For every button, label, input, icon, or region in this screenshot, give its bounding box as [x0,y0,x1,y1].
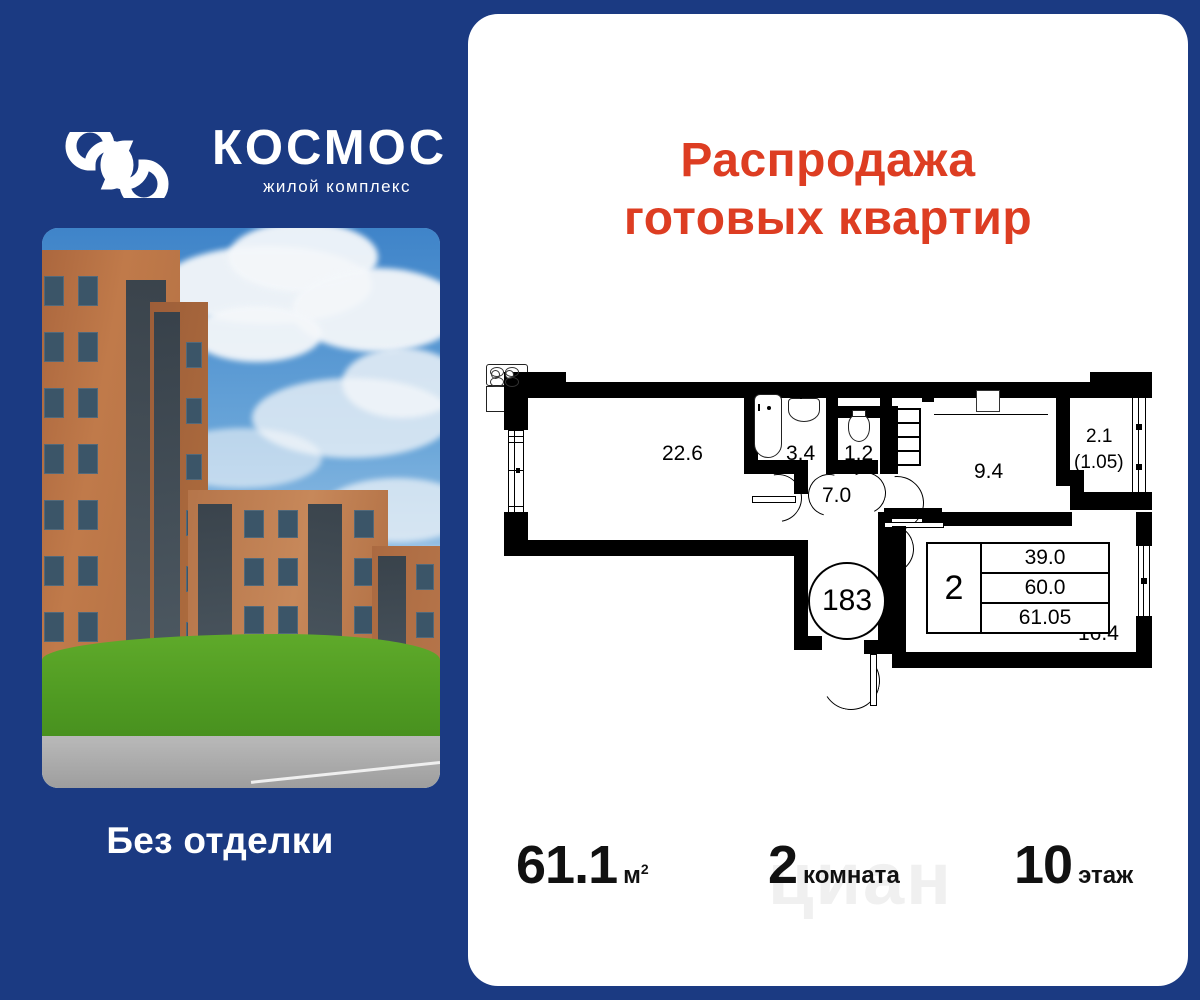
stat-floor-value: 10 [1014,834,1072,896]
stat-floor-label: этаж [1078,862,1133,890]
brand-name: КОСМОС [212,122,462,174]
apartment-spec-box: 2 39.0 60.0 61.05 [926,542,1110,634]
room-area-bathroom: 3.4 [786,442,815,466]
headline-line-1: Распродажа [468,132,1188,190]
brand-tagline: жилой комплекс [212,177,462,197]
stat-rooms-value: 2 [768,834,797,896]
summary-stats: циан 61.1 м2 2 комната 10 этаж [468,826,1188,916]
spec-total-area: 60.0 [982,574,1108,604]
room-area-living: 22.6 [662,442,703,466]
brand-logo: КОСМОС жилой комплекс [52,122,452,212]
spec-rooms-count: 2 [928,544,982,632]
room-area-kitchen: 9.4 [974,460,1003,484]
stat-floor: 10 этаж [1014,834,1133,896]
lawn [42,634,440,744]
finish-caption: Без отделки [0,820,440,862]
headline-line-2: готовых квартир [468,190,1188,248]
room-area-balcony-coef: (1.05) [1074,452,1124,474]
road [42,736,440,788]
floor-plan: 22.6 3.4 1.2 [486,364,1170,704]
stat-rooms-label: комната [803,862,900,890]
poster-root: КОСМОС жилой комплекс [0,0,1200,1000]
stat-area: 61.1 м2 [516,834,649,896]
offer-card: Распродажа готовых квартир 22.6 [468,14,1188,986]
room-area-wc: 1.2 [844,442,873,466]
toilet-icon [848,414,870,442]
apartment-number-badge: 183 [808,562,886,640]
road-marking [251,761,440,784]
stat-area-value: 61.1 [516,834,617,896]
cloud [192,306,322,362]
spec-total-with-balcony: 61.05 [982,604,1108,632]
stat-area-unit: м2 [623,861,649,890]
spec-living-area: 39.0 [982,544,1108,574]
residential-complex-photo [42,228,440,788]
infinity-icon [52,132,192,198]
page-title: Распродажа готовых квартир [468,132,1188,248]
sink-icon [788,398,820,422]
room-area-balcony: 2.1 [1086,426,1112,448]
stat-rooms: 2 комната [768,834,900,896]
